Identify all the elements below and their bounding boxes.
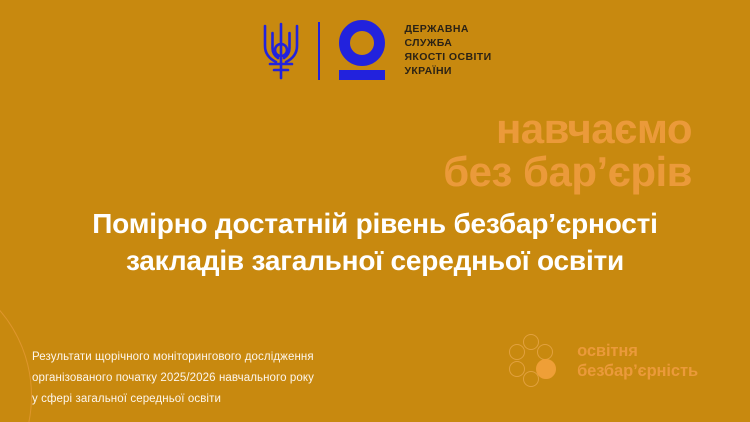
logo-divider [318, 22, 320, 80]
organization-line: ЯКОСТІ ОСВІТИ [404, 51, 491, 65]
barrier-free-logo: освітня безбар’єрність [509, 334, 698, 388]
barrier-free-line-2: безбар’єрність [577, 361, 698, 381]
description-line-3: у сфері загальної середньої освіти [32, 389, 314, 410]
slogan-line-2: без бар’єрів [443, 151, 692, 192]
page-title-line-1: Помірно достатній рівень безбар’єрності [24, 206, 726, 243]
description-line-1: Результати щорічного моніторингового дос… [32, 347, 314, 368]
description-line-2: організованого початку 2025/2026 навчаль… [32, 368, 314, 389]
barrier-free-wordmark: освітня безбар’єрність [577, 341, 698, 381]
organization-line: УКРАЇНИ [404, 65, 491, 79]
study-description: Результати щорічного моніторингового дос… [32, 347, 314, 410]
barrier-free-line-1: освітня [577, 341, 698, 361]
decorative-arc [0, 264, 32, 422]
header-logo-lockup: ДЕРЖАВНА СЛУЖБА ЯКОСТІ ОСВІТИ УКРАЇНИ [0, 18, 750, 84]
quality-service-q-icon [336, 20, 388, 82]
organization-line: СЛУЖБА [404, 37, 491, 51]
presentation-slide: ДЕРЖАВНА СЛУЖБА ЯКОСТІ ОСВІТИ УКРАЇНИ на… [0, 0, 750, 422]
barrier-free-circles-icon [509, 334, 561, 388]
ukraine-trident-icon [258, 18, 304, 84]
page-title-line-2: закладів загальної середньої освіти [24, 243, 726, 280]
slogan-line-1: навчаємо [443, 108, 692, 149]
organization-name: ДЕРЖАВНА СЛУЖБА ЯКОСТІ ОСВІТИ УКРАЇНИ [404, 23, 491, 79]
organization-line: ДЕРЖАВНА [404, 23, 491, 37]
campaign-slogan: навчаємо без бар’єрів [443, 108, 692, 192]
page-title: Помірно достатній рівень безбар’єрності … [0, 206, 750, 280]
